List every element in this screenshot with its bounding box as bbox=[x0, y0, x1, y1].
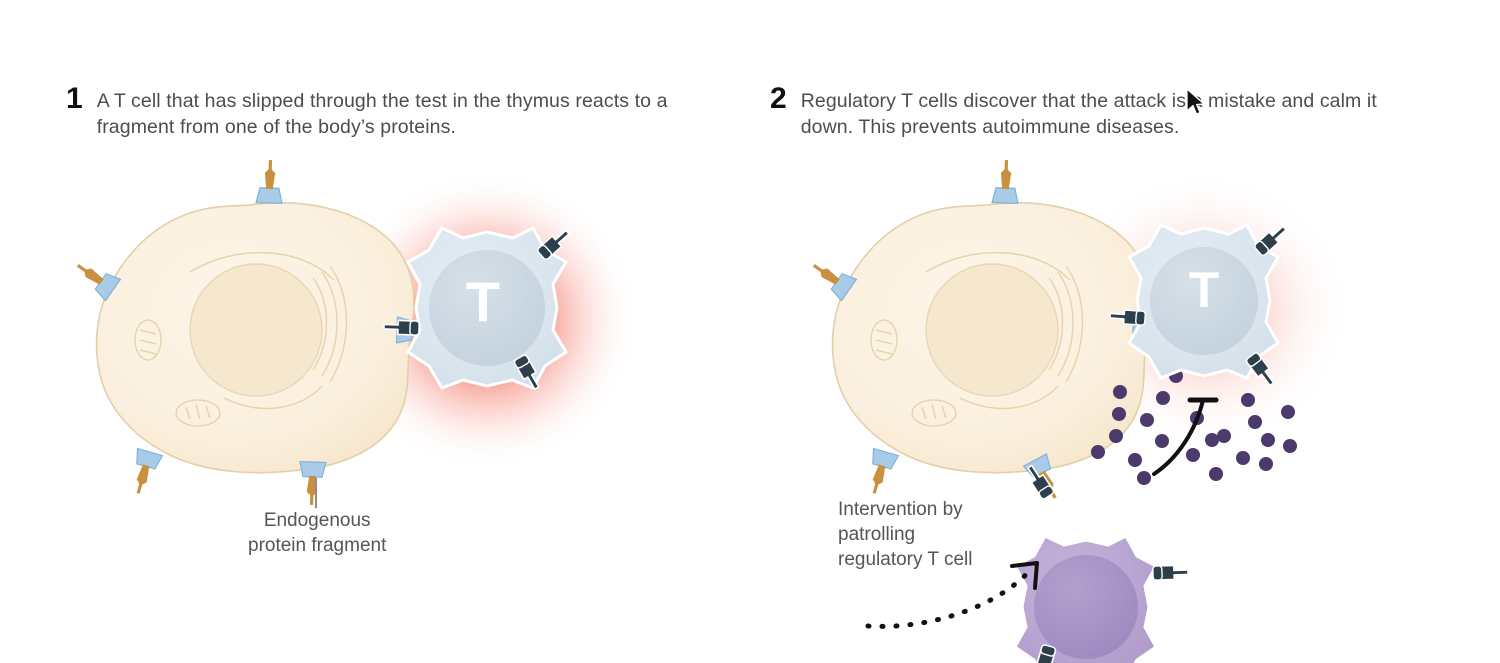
mhc-peptide-left bbox=[70, 255, 120, 301]
tcr-receptor-synapse bbox=[384, 320, 419, 335]
antigen-presenting-cell-body-2 bbox=[833, 203, 1150, 473]
mhc-peptide-top bbox=[256, 160, 283, 204]
panel-2-artwork bbox=[806, 160, 1353, 663]
antigen-presenting-cell-body bbox=[97, 203, 414, 473]
intervention-label: Intervention by patrolling regulatory T … bbox=[838, 497, 972, 572]
treg-receptor-right bbox=[1153, 565, 1188, 580]
tcr-receptor-lower-right bbox=[513, 354, 543, 391]
intervention-label-line-3: regulatory T cell bbox=[838, 547, 972, 572]
mitochondria bbox=[135, 320, 220, 426]
treg-receptor-bottom-left bbox=[1033, 644, 1056, 663]
mhc-peptide-synapse bbox=[397, 317, 441, 344]
panel-1-caption: 1 A T cell that has slipped through the … bbox=[66, 88, 717, 140]
panel-2-step-number: 2 bbox=[770, 84, 787, 114]
apc-nucleus-2 bbox=[926, 264, 1058, 396]
panel-2-caption: 2 Regulatory T cells discover that the a… bbox=[770, 88, 1421, 140]
suppression-arrow bbox=[1154, 400, 1203, 474]
patrolling-dotted-arrow bbox=[868, 568, 1032, 626]
t-cell-label-2: T bbox=[1164, 265, 1244, 315]
treg-cell-nucleus bbox=[1034, 555, 1138, 659]
tcr-receptor-synapse-2 bbox=[1110, 309, 1146, 325]
mouse-pointer-icon bbox=[1185, 88, 1207, 118]
mhc-peptide-left-2 bbox=[806, 255, 856, 301]
apc-nucleus bbox=[190, 264, 322, 396]
panel-1-caption-text: A T cell that has slipped through the te… bbox=[97, 88, 717, 140]
tcr-receptor-lower-right-2 bbox=[1245, 352, 1277, 388]
treg-cell-label: TREG bbox=[1028, 500, 1190, 553]
mhc-peptide-bl-2 bbox=[862, 448, 899, 497]
mhc-peptide-bl bbox=[126, 448, 163, 497]
mhc-peptide-top-2 bbox=[992, 160, 1019, 204]
t-cell-label: T bbox=[443, 274, 523, 330]
intervention-label-line-1: Intervention by bbox=[838, 497, 972, 522]
endoplasmic-reticulum-2 bbox=[926, 253, 1083, 409]
treg-label-sub: REG bbox=[1068, 514, 1130, 545]
mitochondria-2 bbox=[871, 320, 956, 426]
treg-receptor-synapse bbox=[1024, 463, 1055, 500]
panel-1-artwork bbox=[70, 160, 639, 508]
mhc-peptide-bottom bbox=[299, 462, 326, 506]
endoplasmic-reticulum bbox=[190, 253, 347, 409]
panel-1-step-number: 1 bbox=[66, 84, 83, 114]
illustration-canvas: 1 A T cell that has slipped through the … bbox=[0, 0, 1500, 663]
treg-cell-membrane bbox=[1015, 536, 1156, 663]
tcr-receptor-upper-right-2 bbox=[1254, 223, 1289, 257]
mhc-peptide-synapse-t bbox=[1133, 317, 1177, 344]
intervention-label-line-2: patrolling bbox=[838, 522, 972, 547]
tcr-receptor-upper-right bbox=[537, 227, 572, 261]
patrolling-arrow-head bbox=[1012, 563, 1037, 588]
cytokine-particles bbox=[1091, 369, 1297, 485]
endogenous-fragment-label: Endogenous protein fragment bbox=[248, 508, 386, 558]
panel-2-caption-text: Regulatory T cells discover that the att… bbox=[801, 88, 1421, 140]
treg-label-main: T bbox=[1040, 497, 1068, 549]
